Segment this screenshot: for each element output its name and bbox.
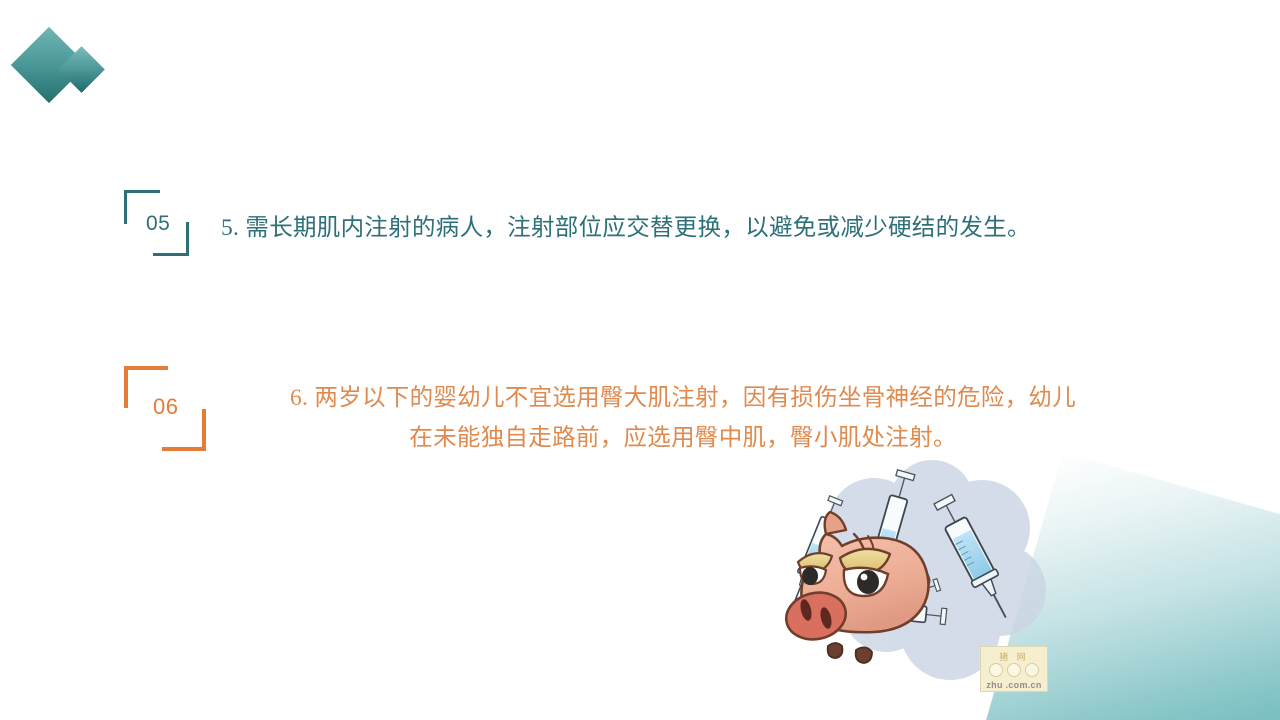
point-marker-05: 05 (124, 190, 189, 256)
watermark-url-text: zhu .com.cn (981, 680, 1047, 690)
teal-diamond-logo (22, 32, 118, 102)
slide-canvas: 05 5. 需长期肌内注射的病人，注射部位应交替更换，以避免或减少硬结的发生。 … (0, 0, 1280, 720)
point-number-05: 05 (146, 213, 170, 234)
point-marker-06: 06 (124, 366, 206, 451)
watermark-badge: 猪 网 zhu .com.cn (980, 646, 1048, 692)
point-text-06: 6. 两岁以下的婴幼儿不宜选用臀大肌注射，因有损伤坐骨神经的危险，幼儿 在未能独… (238, 378, 1128, 458)
point-text-05-line-1: 5. 需长期肌内注射的病人，注射部位应交替更换，以避免或减少硬结的发生。 (221, 215, 1031, 241)
cartoon-pig-with-syringes-illustration: 疫苗 疫苗 (782, 458, 1054, 708)
point-text-06-line-2: 在未能独自走路前，应选用臀中肌，臀小肌处注射。 (238, 418, 1128, 458)
watermark-top-text: 猪 网 (981, 650, 1047, 663)
point-text-06-line-1: 6. 两岁以下的婴幼儿不宜选用臀大肌注射，因有损伤坐骨神经的危险，幼儿 (238, 378, 1128, 418)
watermark-dots-icon (981, 663, 1047, 677)
point-number-06: 06 (153, 396, 178, 418)
point-text-05: 5. 需长期肌内注射的病人，注射部位应交替更换，以避免或减少硬结的发生。 (221, 208, 1031, 248)
